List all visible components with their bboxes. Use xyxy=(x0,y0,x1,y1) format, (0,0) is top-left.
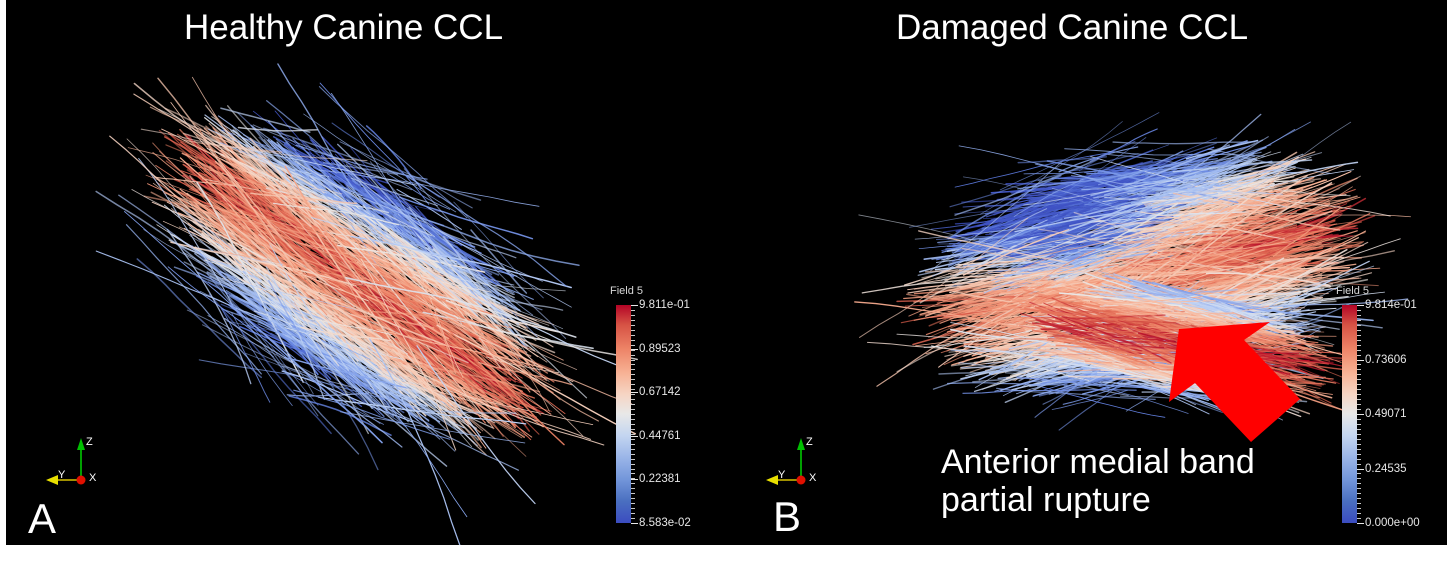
colorbar-tick-label: 0.73606 xyxy=(1365,354,1407,366)
colorbar-minor-tick xyxy=(1357,419,1361,420)
colorbar-minor-tick xyxy=(1357,379,1361,380)
colorbar-major-tick xyxy=(1357,414,1364,415)
axis-triad-damaged: Z Y X xyxy=(754,432,826,494)
colorbar-minor-tick xyxy=(1357,394,1361,395)
colorbar-minor-tick xyxy=(1357,340,1361,341)
colorbar-damaged-ticks xyxy=(1357,305,1364,523)
colorbar-minor-tick xyxy=(1357,503,1361,504)
colorbar-minor-tick xyxy=(1357,384,1361,385)
rupture-arrow-icon xyxy=(1169,322,1300,442)
colorbar-major-tick xyxy=(1357,305,1364,306)
colorbar-damaged-gradient[interactable] xyxy=(1342,305,1357,523)
colorbar-minor-tick xyxy=(1357,444,1361,445)
rupture-annotation-line1: Anterior medial band xyxy=(941,443,1255,481)
colorbar-minor-tick xyxy=(1357,434,1361,435)
colorbar-minor-tick xyxy=(1357,493,1361,494)
colorbar-minor-tick xyxy=(1357,454,1361,455)
colorbar-minor-tick xyxy=(1357,345,1361,346)
colorbar-tick-label: 9.814e-01 xyxy=(1365,299,1417,311)
colorbar-minor-tick xyxy=(1357,429,1361,430)
colorbar-major-tick xyxy=(1357,469,1364,470)
colorbar-minor-tick xyxy=(1357,330,1361,331)
colorbar-minor-tick xyxy=(1357,315,1361,316)
colorbar-minor-tick xyxy=(1357,389,1361,390)
colorbar-minor-tick xyxy=(1357,325,1361,326)
colorbar-minor-tick xyxy=(1357,399,1361,400)
axis-triad-damaged-z-label: Z xyxy=(806,436,813,448)
colorbar-minor-tick xyxy=(1357,310,1361,311)
colorbar-tick-label: 0.24535 xyxy=(1365,463,1407,475)
colorbar-major-tick xyxy=(1357,360,1364,361)
figure-root: Healthy Canine CCL A Z Y X Field 5 9.811… xyxy=(0,0,1453,570)
colorbar-minor-tick xyxy=(1357,518,1361,519)
colorbar-minor-tick xyxy=(1357,513,1361,514)
rupture-annotation: Anterior medial band partial rupture xyxy=(941,443,1255,519)
rupture-annotation-line2: partial rupture xyxy=(941,481,1255,519)
colorbar-minor-tick xyxy=(1357,508,1361,509)
colorbar-minor-tick xyxy=(1357,464,1361,465)
colorbar-minor-tick xyxy=(1357,409,1361,410)
colorbar-minor-tick xyxy=(1357,374,1361,375)
colorbar-minor-tick xyxy=(1357,478,1361,479)
axis-triad-damaged-y-label: Y xyxy=(778,469,785,481)
colorbar-minor-tick xyxy=(1357,355,1361,356)
colorbar-minor-tick xyxy=(1357,320,1361,321)
colorbar-minor-tick xyxy=(1357,364,1361,365)
colorbar-minor-tick xyxy=(1357,404,1361,405)
render-canvas: Healthy Canine CCL A Z Y X Field 5 9.811… xyxy=(6,0,1447,545)
colorbar-minor-tick xyxy=(1357,369,1361,370)
colorbar-minor-tick xyxy=(1357,449,1361,450)
colorbar-minor-tick xyxy=(1357,473,1361,474)
colorbar-damaged-title: Field 5 xyxy=(1336,285,1369,297)
colorbar-tick-label: 0.49071 xyxy=(1365,408,1407,420)
colorbar-minor-tick xyxy=(1357,483,1361,484)
colorbar-minor-tick xyxy=(1357,350,1361,351)
colorbar-minor-tick xyxy=(1357,439,1361,440)
colorbar-minor-tick xyxy=(1357,335,1361,336)
colorbar-minor-tick xyxy=(1357,459,1361,460)
colorbar-minor-tick xyxy=(1357,424,1361,425)
colorbar-tick-label: 0.000e+00 xyxy=(1365,517,1420,529)
panel-b-letter: B xyxy=(773,496,801,538)
colorbar-minor-tick xyxy=(1357,498,1361,499)
colorbar-minor-tick xyxy=(1357,488,1361,489)
colorbar-major-tick xyxy=(1357,523,1364,524)
axis-triad-damaged-x-label: X xyxy=(809,472,816,484)
